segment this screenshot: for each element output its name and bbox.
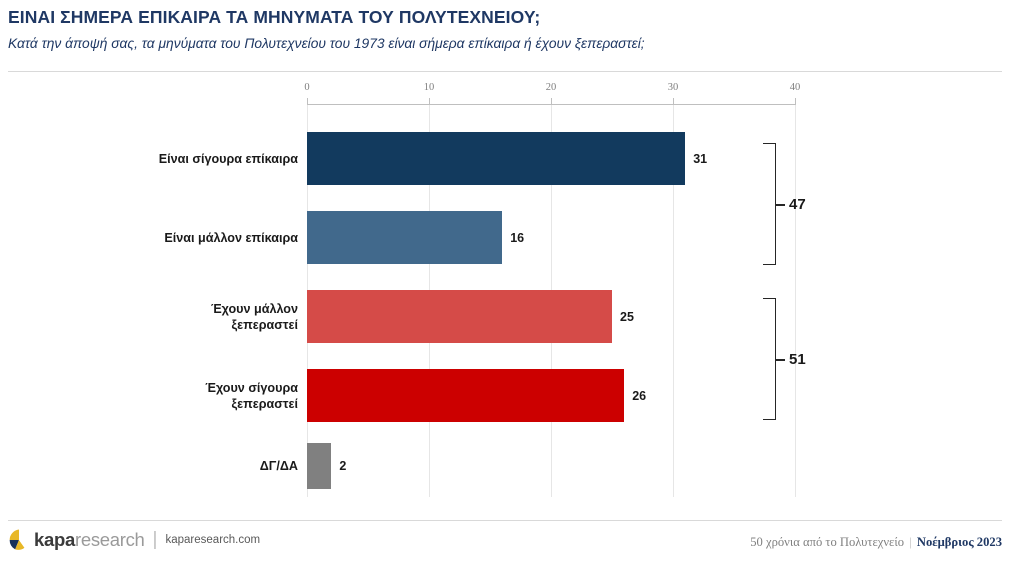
bracket-pointer: [776, 204, 785, 206]
bar-value-label: 26: [632, 390, 646, 403]
bar-value-label: 2: [339, 460, 346, 473]
gridline: [795, 105, 796, 497]
bar-value-label: 16: [510, 232, 524, 245]
footer-separator: |: [909, 535, 912, 549]
category-label: Είναι μάλλον επίκαιρα: [164, 230, 298, 246]
x-tick: [795, 98, 796, 105]
x-tick-label: 10: [424, 82, 435, 93]
category-label: Είναι σίγουρα επίκαιρα: [159, 151, 298, 167]
x-tick-label: 0: [304, 82, 309, 93]
logo-research-text: research: [75, 529, 145, 551]
poll-chart-page: ΕΙΝΑΙ ΣΗΜΕΡΑ ΕΠΙΚΑΙΡΑ ΤΑ ΜΗΝΥΜΑΤΑ ΤΟΥ ΠΟ…: [0, 0, 1010, 564]
x-tick: [673, 98, 674, 105]
bar[interactable]: [307, 443, 331, 489]
category-label: ΔΓ/ΔΑ: [260, 458, 298, 474]
bar[interactable]: [307, 290, 612, 343]
page-subtitle: Κατά την άποψή σας, τα μηνύματα του Πολυ…: [8, 36, 1010, 51]
bracket: [763, 298, 776, 420]
bar-value-label: 25: [620, 311, 634, 324]
x-tick-label: 20: [546, 82, 557, 93]
x-tick-label: 30: [668, 82, 679, 93]
footer-campaign-text: 50 χρόνια από το Πολυτεχνείο: [750, 535, 904, 549]
bar[interactable]: [307, 369, 624, 422]
bracket-pointer: [776, 359, 785, 361]
category-label: Έχουν σίγουρα ξεπεραστεί: [205, 380, 298, 412]
footer-date: Νοέμβριος 2023: [917, 535, 1002, 549]
website-link[interactable]: kaparesearch.com: [165, 534, 260, 546]
header-divider: [8, 71, 1002, 72]
x-tick: [307, 98, 308, 105]
footer: kapa research | kaparesearch.com 50 χρόν…: [0, 521, 1010, 564]
bar-value-label: 31: [693, 153, 707, 166]
bar[interactable]: [307, 132, 685, 185]
logo-kapa-text: kapa: [34, 529, 75, 551]
x-tick: [429, 98, 430, 105]
bar[interactable]: [307, 211, 502, 264]
brand-logo[interactable]: kapa research | kaparesearch.com: [8, 529, 260, 551]
x-tick: [551, 98, 552, 105]
footer-caption: 50 χρόνια από το Πολυτεχνείο | Νοέμβριος…: [750, 535, 1002, 550]
header: ΕΙΝΑΙ ΣΗΜΕΡΑ ΕΠΙΚΑΙΡΑ ΤΑ ΜΗΝΥΜΑΤΑ ΤΟΥ ΠΟ…: [0, 0, 1010, 72]
bracket-value-label: 51: [789, 352, 806, 367]
bracket-value-label: 47: [789, 197, 806, 212]
page-title: ΕΙΝΑΙ ΣΗΜΕΡΑ ΕΠΙΚΑΙΡΑ ΤΑ ΜΗΝΥΜΑΤΑ ΤΟΥ ΠΟ…: [8, 7, 1010, 28]
category-label: Έχουν μάλλον ξεπεραστεί: [211, 301, 298, 333]
x-tick-label: 40: [790, 82, 801, 93]
bar-chart: 010203040 31Είναι σίγουρα επίκαιρα16Είνα…: [0, 78, 1010, 512]
logo-divider: |: [153, 529, 158, 551]
kapa-logo-icon: [8, 529, 30, 551]
bracket: [763, 143, 776, 265]
